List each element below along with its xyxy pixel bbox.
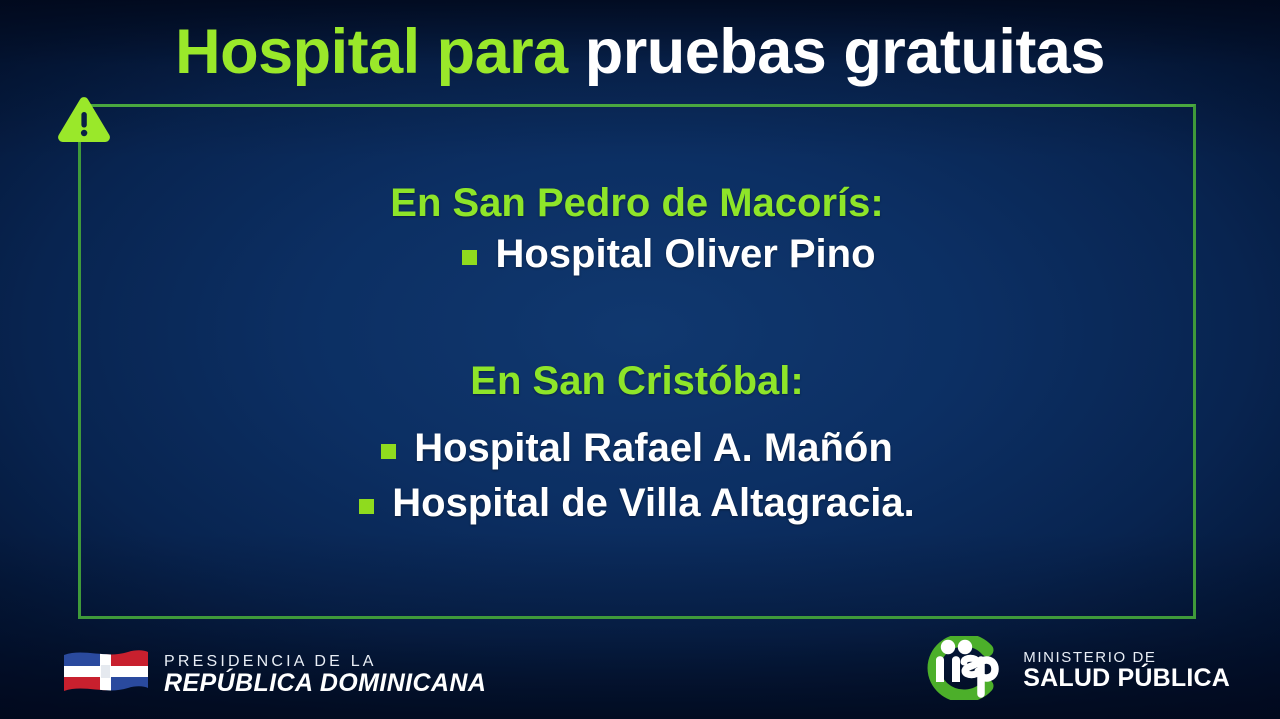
warning-triangle-icon — [56, 96, 112, 144]
page-title-white: pruebas gratuitas — [585, 17, 1105, 87]
ministry-logo-text: MINISTERIO DE SALUD PÚBLICA — [1023, 650, 1230, 691]
square-bullet-icon — [381, 444, 396, 459]
presidency-line1: PRESIDENCIA DE LA — [164, 654, 486, 670]
content-area: En San Pedro de Macorís: Hospital Oliver… — [78, 104, 1196, 619]
slide-root: Hospital para pruebas gratuitas En San P… — [0, 0, 1280, 719]
ministry-line1: MINISTERIO DE — [1023, 650, 1230, 665]
ministry-line2: SALUD PÚBLICA — [1023, 666, 1230, 691]
square-bullet-icon — [359, 499, 374, 514]
presidency-line2: REPÚBLICA DOMINICANA — [164, 671, 486, 696]
section-heading-san-pedro: En San Pedro de Macorís: — [78, 181, 1196, 226]
page-title-green: Hospital para — [175, 17, 568, 87]
square-bullet-icon — [462, 250, 477, 265]
presidency-logo: PRESIDENCIA DE LA REPÚBLICA DOMINICANA — [62, 646, 486, 703]
msp-logo-icon — [917, 636, 1009, 705]
list-item: Hospital Rafael A. Mañón — [78, 426, 1196, 471]
list-item-label: Hospital de Villa Altagracia. — [392, 481, 914, 526]
section-san-pedro: En San Pedro de Macorís: Hospital Oliver… — [78, 181, 1196, 277]
ministry-logo: MINISTERIO DE SALUD PÚBLICA — [917, 636, 1230, 705]
section-san-cristobal: En San Cristóbal: Hospital Rafael A. Mañ… — [78, 359, 1196, 526]
list-item: Hospital Oliver Pino — [78, 232, 1196, 277]
list-item: Hospital de Villa Altagracia. — [78, 481, 1196, 526]
list-item-label: Hospital Oliver Pino — [495, 232, 875, 277]
list-item-label: Hospital Rafael A. Mañón — [414, 426, 893, 471]
dominican-republic-flag-icon — [62, 646, 150, 703]
section-heading-san-cristobal: En San Cristóbal: — [78, 359, 1196, 404]
page-title: Hospital para pruebas gratuitas — [0, 18, 1280, 87]
presidency-logo-text: PRESIDENCIA DE LA REPÚBLICA DOMINICANA — [164, 654, 486, 696]
